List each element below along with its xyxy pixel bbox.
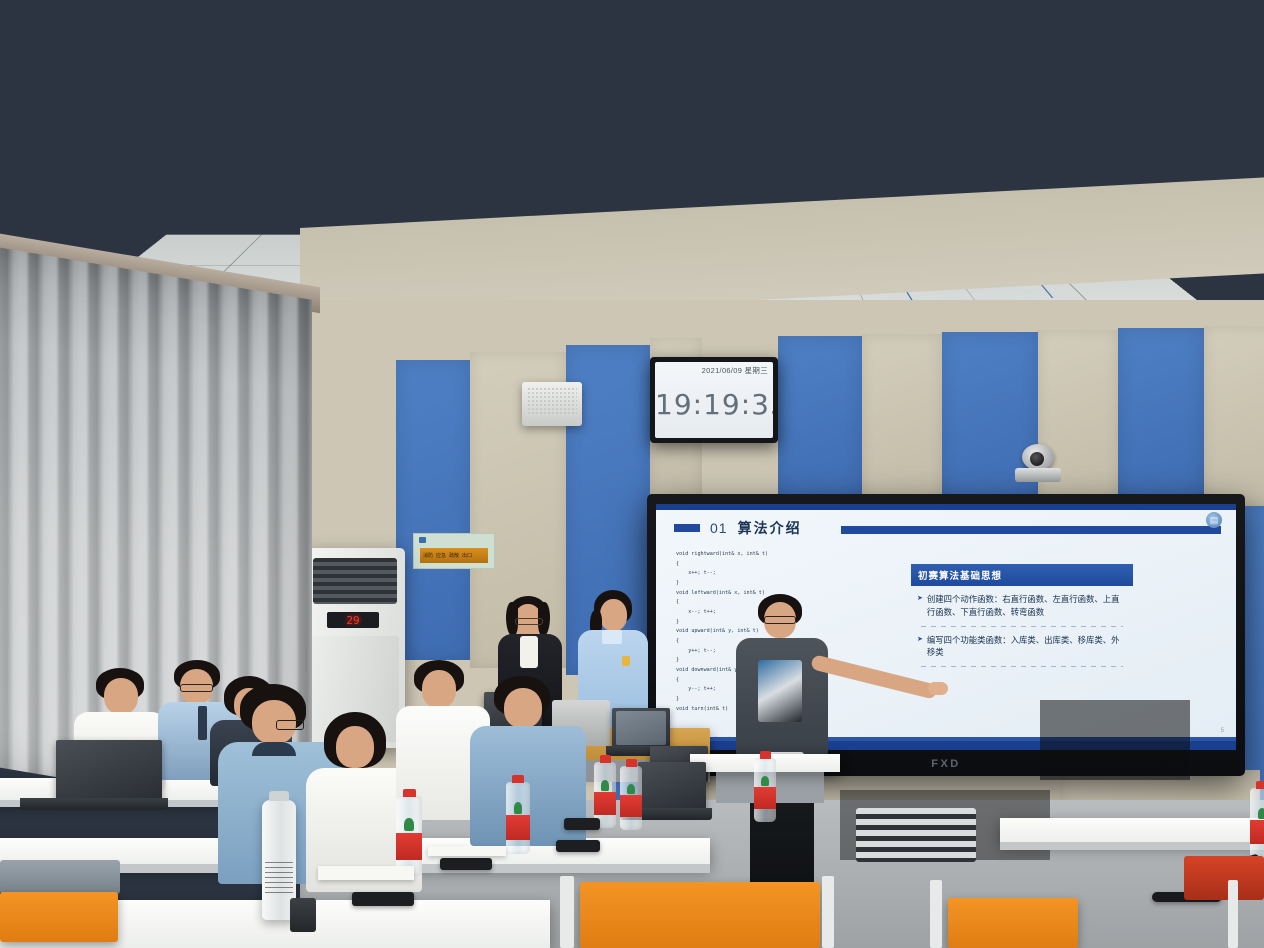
bottle-leaf-icon — [761, 776, 769, 786]
wall-panel-blue — [778, 336, 862, 504]
bullet-arrow-icon: ➤ — [917, 634, 923, 660]
bottle-label — [396, 833, 422, 860]
clock-time: 19:19:35 — [655, 388, 773, 421]
pointing-hand — [928, 682, 948, 695]
chair-seat[interactable] — [0, 892, 118, 942]
digital-clock-display: 2021/06/09 星期三 19:19:35 — [650, 357, 778, 443]
clock-date: 2021/06/09 星期三 — [702, 365, 768, 376]
badge — [622, 656, 630, 666]
bottle-label — [1250, 820, 1264, 844]
slide-header: 01 算法介绍 — [674, 518, 802, 538]
water-bottle[interactable] — [1250, 788, 1264, 858]
bottle-leaf-icon — [1258, 808, 1264, 819]
slide-header-chip — [674, 524, 700, 532]
bottle-cap — [760, 751, 771, 759]
head — [504, 688, 542, 728]
sign-label: 出口 — [462, 552, 472, 559]
chair-frame — [930, 880, 942, 948]
person-presenter — [736, 594, 836, 894]
chair-frame — [822, 876, 834, 948]
chair-frame — [1228, 880, 1238, 948]
bottle-leaf-icon — [404, 818, 413, 831]
slide-title: 算法介绍 — [738, 518, 802, 538]
slide-page-number: 5 — [1221, 728, 1224, 734]
head — [422, 670, 456, 708]
info-divider — [921, 626, 1123, 627]
glasses-icon — [180, 684, 213, 692]
laptop-lid[interactable] — [638, 762, 706, 810]
glasses-icon — [515, 618, 543, 625]
water-bottle[interactable] — [506, 782, 530, 854]
laptop-lid[interactable] — [56, 740, 162, 800]
wall-panel-beige — [1204, 326, 1264, 506]
info-box-heading: 初赛算法基础思想 — [911, 564, 1133, 586]
chair-backrest[interactable] — [856, 808, 976, 862]
info-bullet: ➤ 创建四个动作函数：右直行函数、左直行函数、上直行函数、下直行函数、转弯函数 — [917, 593, 1127, 619]
bottle-cap — [626, 759, 637, 767]
wall-panel-beige — [862, 334, 942, 504]
bottle-cap — [512, 775, 524, 783]
clock-screen: 2021/06/09 星期三 19:19:35 — [655, 362, 773, 438]
bottle-label — [620, 795, 642, 817]
paper-documents[interactable] — [318, 866, 414, 880]
ptz-camera-base — [1015, 468, 1061, 482]
wall-speaker — [522, 382, 582, 426]
remote-control[interactable] — [564, 818, 600, 830]
bottle-cap — [1256, 781, 1264, 789]
head — [336, 726, 374, 768]
smartphone[interactable] — [352, 892, 414, 906]
ptz-camera — [1015, 444, 1061, 486]
sign-label: 消防 — [423, 552, 433, 559]
glasses-icon — [764, 616, 796, 624]
bottle-leaf-icon — [514, 802, 523, 814]
slide-info-box: 初赛算法基础思想 ➤ 创建四个动作函数：右直行函数、左直行函数、上直行函数、下直… — [911, 564, 1133, 674]
ac-temperature-value: 29 — [346, 614, 359, 627]
conference-room-scene: 2021/06/09 星期三 19:19:35 消防 应急 疏散 出口 29 G… — [0, 0, 1264, 948]
tshirt-graphic — [758, 660, 802, 722]
slide-header-rule — [841, 526, 1221, 534]
slide-section-number: 01 — [710, 520, 728, 536]
slide-top-bar — [656, 504, 1236, 510]
sign-label-bar: 消防 应急 疏散 出口 — [420, 548, 488, 563]
bottle-cap — [403, 789, 416, 797]
smartphone[interactable] — [440, 858, 492, 870]
chair-seat[interactable] — [948, 898, 1078, 948]
wall-safety-sign: 消防 应急 疏散 出口 — [413, 533, 495, 569]
chair-backrest[interactable] — [0, 860, 120, 894]
water-bottle[interactable] — [396, 796, 422, 876]
chair-frame — [560, 876, 574, 948]
bottle-label — [594, 792, 616, 814]
water-bottle[interactable] — [754, 758, 776, 822]
bottle-cap — [269, 791, 288, 801]
info-bullet: ➤ 编写四个功能类函数：入库类、出库类、移库类、外移类 — [917, 634, 1127, 660]
bottle-label — [506, 815, 530, 839]
chair-backrest[interactable] — [1184, 856, 1264, 900]
laptop-base[interactable] — [20, 798, 168, 810]
head — [104, 678, 138, 714]
chair-seat[interactable] — [580, 882, 820, 948]
bullet-arrow-icon: ➤ — [917, 593, 923, 619]
attendee-table-far-right — [1000, 818, 1264, 844]
paper-documents[interactable] — [428, 846, 506, 856]
blouse — [520, 636, 538, 668]
camera-lens-icon — [1030, 452, 1044, 466]
save-icon[interactable]: ▤ — [1206, 512, 1222, 528]
collar — [602, 630, 622, 644]
shadow-area — [1040, 700, 1190, 780]
necktie — [198, 706, 207, 740]
ac-vent-icon — [313, 558, 397, 604]
ac-temperature-display: 29 — [327, 612, 379, 628]
glasses-icon — [276, 720, 304, 730]
info-bullet-text: 创建四个动作函数：右直行函数、左直行函数、上直行函数、下直行函数、转弯函数 — [927, 593, 1127, 619]
laptop-screen — [616, 711, 666, 745]
sign-label: 疏散 — [449, 552, 459, 559]
wall-panel-blue — [396, 360, 470, 660]
info-bullet-text: 编写四个功能类函数：入库类、出库类、移库类、外移类 — [927, 634, 1127, 660]
bottle-cap — [600, 755, 611, 763]
info-divider — [921, 666, 1123, 667]
info-box-body: ➤ 创建四个动作函数：右直行函数、左直行函数、上直行函数、下直行函数、转弯函数 … — [911, 586, 1133, 667]
bottle-script-text — [265, 862, 292, 893]
head — [600, 599, 627, 631]
bottle-label — [754, 787, 776, 809]
bottle-leaf-icon — [601, 780, 609, 791]
bottle-leaf-icon — [627, 784, 635, 794]
water-bottle[interactable] — [620, 766, 642, 830]
table-edge — [1000, 842, 1264, 850]
collar — [252, 742, 296, 756]
smartphone[interactable] — [556, 840, 600, 852]
sign-logo-icon — [419, 537, 426, 543]
sign-label: 应急 — [436, 552, 446, 559]
travel-mug[interactable] — [290, 898, 316, 932]
wall-panel-blue — [1118, 328, 1204, 504]
